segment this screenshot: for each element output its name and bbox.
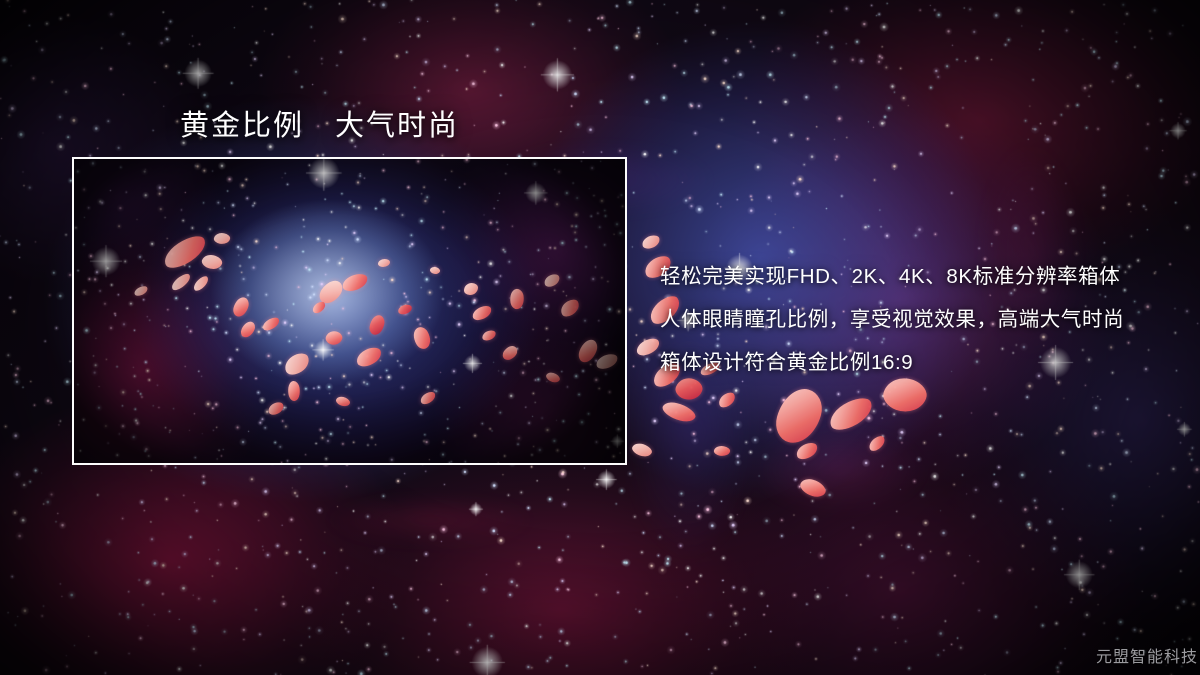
framed-image-panel [72, 157, 627, 465]
slide-canvas: 黄金比例 大气时尚 轻松完美实现FHD、2K、4K、8K标准分辨率箱体 人体眼睛… [0, 0, 1200, 675]
petal [354, 345, 384, 369]
petal [471, 304, 494, 322]
petal [397, 304, 412, 315]
petal [368, 314, 385, 336]
petal [232, 296, 251, 319]
panel-nebula-image [74, 159, 625, 463]
petal [716, 390, 738, 409]
petal [558, 297, 582, 319]
petal [660, 398, 698, 427]
body-line-1: 轻松完美实现FHD、2K、4K、8K标准分辨率箱体 [660, 255, 1160, 298]
petal [771, 384, 826, 449]
petal [213, 232, 231, 246]
petal [267, 401, 286, 417]
petal [481, 329, 497, 341]
watermark-label: 元盟智能科技 [1096, 643, 1198, 667]
petal [713, 445, 730, 458]
slide-body-text: 轻松完美实现FHD、2K、4K、8K标准分辨率箱体 人体眼睛瞳孔比例，享受视觉效… [660, 255, 1160, 384]
slide-title: 黄金比例 大气时尚 [180, 102, 459, 144]
panel-starfield [74, 159, 625, 463]
petal [419, 390, 438, 406]
petal [576, 337, 599, 365]
petal [286, 380, 301, 402]
petal [595, 352, 620, 370]
body-line-3: 箱体设计符合黄金比例16:9 [660, 341, 1160, 384]
panel-vignette [74, 159, 625, 463]
petal [316, 276, 346, 308]
petal [191, 274, 211, 292]
petal [641, 234, 661, 250]
petal [378, 259, 390, 267]
petal [160, 231, 211, 272]
petal [630, 440, 653, 459]
petal [500, 343, 519, 363]
petal [543, 273, 562, 289]
petal [239, 319, 257, 339]
petal [410, 324, 435, 351]
petal [634, 336, 661, 357]
petal [169, 272, 193, 293]
petal [324, 329, 344, 348]
petal [545, 370, 562, 385]
petal [798, 475, 829, 502]
petal [341, 272, 370, 293]
petal [825, 393, 877, 434]
petal [508, 288, 525, 310]
petal [794, 441, 819, 462]
petal [335, 394, 351, 408]
petal [133, 285, 149, 297]
body-line-2: 人体眼睛瞳孔比例，享受视觉效果，高端大气时尚 [660, 298, 1160, 341]
petal [261, 316, 282, 333]
petal [464, 283, 478, 295]
petal [281, 350, 312, 377]
petal [866, 434, 887, 453]
petal [200, 252, 224, 272]
petal [429, 266, 441, 276]
petal [311, 300, 328, 315]
